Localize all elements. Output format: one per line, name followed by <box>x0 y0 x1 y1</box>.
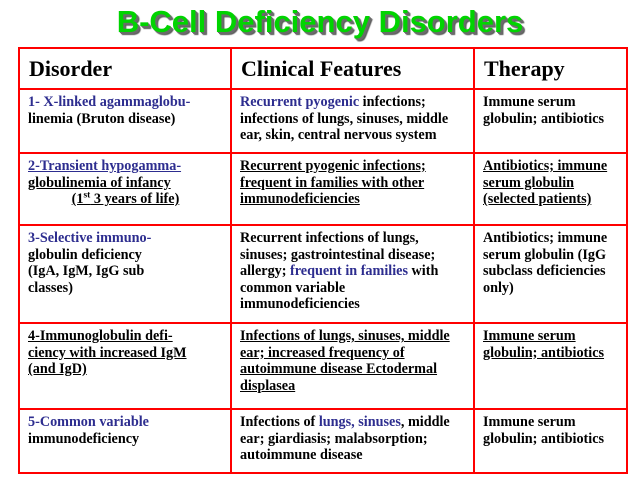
therapy-3-line-1: Antibiotics; immune <box>483 230 619 247</box>
disorder-1-line-2: linemia (Bruton disease) <box>28 111 223 128</box>
cell-therapy-1: Immune serum globulin; antibiotics <box>474 89 627 153</box>
features-1-line-1-rest: infections; <box>359 94 426 110</box>
cell-disorder-3: 3-Selective immuno- globulin deficiency … <box>19 225 231 323</box>
disorder-3-line-1: 3-Selective immuno- <box>28 230 223 247</box>
disorder-2-line-3: (1st 3 years of life) <box>28 191 223 208</box>
features-2-line-3: immunodeficiencies <box>240 191 466 208</box>
therapy-4-line-2: globulin; antibiotics <box>483 345 619 362</box>
disorder-3-line-3: (IgA, IgM, IgG sub <box>28 263 223 280</box>
features-3-line-1: Recurrent infections of lungs, <box>240 230 466 247</box>
disorder-4-line-1: 4-Immunoglobulin defi- <box>28 328 223 345</box>
therapy-5-line-2: globulin; antibiotics <box>483 431 619 448</box>
cell-disorder-2: 2-Transient hypogamma- globulinemia of i… <box>19 153 231 225</box>
therapy-4-line-1: Immune serum <box>483 328 619 345</box>
disorder-4-line-2: ciency with increased IgM <box>28 345 223 362</box>
disorder-3-line-4: classes) <box>28 280 223 297</box>
slide-root: B-Cell Deficiency Disorders Disorder Cli… <box>0 0 640 480</box>
disorders-table-wrapper: Disorder Clinical Features Therapy 1- X-… <box>18 47 626 473</box>
cell-features-5: Infections of lungs, sinuses, middle ear… <box>231 409 474 473</box>
features-3-highlight: frequent in families <box>290 263 408 279</box>
disorder-5-line-1: 5-Common variable <box>28 414 223 431</box>
features-1-line-2: infections of lungs, sinuses, middle <box>240 111 466 128</box>
therapy-5-line-1: Immune serum <box>483 414 619 431</box>
features-5-line-1: Infections of lungs, sinuses, middle <box>240 414 466 431</box>
cell-features-3: Recurrent infections of lungs, sinuses; … <box>231 225 474 323</box>
therapy-2-line-2: serum globulin <box>483 175 619 192</box>
cell-therapy-5: Immune serum globulin; antibiotics <box>474 409 627 473</box>
features-2-line-2: frequent in families with other <box>240 175 466 192</box>
cell-disorder-4: 4-Immunoglobulin defi- ciency with incre… <box>19 323 231 409</box>
cell-features-2: Recurrent pyogenic infections; frequent … <box>231 153 474 225</box>
therapy-3-line-3: subclass deficiencies <box>483 263 619 280</box>
features-5-line-1-pre: Infections of <box>240 414 319 430</box>
features-4-line-2: ear; increased frequency of <box>240 345 466 362</box>
cell-therapy-2: Antibiotics; immune serum globulin (sele… <box>474 153 627 225</box>
cell-features-1: Recurrent pyogenic infections; infection… <box>231 89 474 153</box>
therapy-2-line-1: Antibiotics; immune <box>483 158 619 175</box>
cell-disorder-1: 1- X-linked agammaglobu- linemia (Bruton… <box>19 89 231 153</box>
features-1-line-1: Recurrent pyogenic infections; <box>240 94 466 111</box>
features-3-line-3-post: with <box>408 263 438 279</box>
disorder-1-line-1: 1- X-linked agammaglobu- <box>28 94 223 111</box>
features-5-line-3: autoimmune disease <box>240 447 466 464</box>
column-header-therapy: Therapy <box>474 48 627 89</box>
disorder-5-line-2: immunodeficiency <box>28 431 223 448</box>
table-header-row: Disorder Clinical Features Therapy <box>19 48 627 89</box>
features-4-line-4: displasea <box>240 378 466 395</box>
features-3-line-4: common variable <box>240 280 466 297</box>
therapy-3-line-2: serum globulin (IgG <box>483 247 619 264</box>
table-row: 5-Common variable immunodeficiency Infec… <box>19 409 627 473</box>
cell-therapy-3: Antibiotics; immune serum globulin (IgG … <box>474 225 627 323</box>
cell-features-4: Infections of lungs, sinuses, middle ear… <box>231 323 474 409</box>
features-4-line-1: Infections of lungs, sinuses, middle <box>240 328 466 345</box>
disorder-2-line-2: globulinemia of infancy <box>28 175 223 192</box>
disorder-4-line-3: (and IgD) <box>28 361 223 378</box>
features-3-line-2: sinuses; gastrointestinal disease; <box>240 247 466 264</box>
features-1-line-3: ear, skin, central nervous system <box>240 127 466 144</box>
features-2-line-1: Recurrent pyogenic infections; <box>240 158 466 175</box>
features-3-line-3-pre: allergy; <box>240 263 290 279</box>
features-5-line-2: ear; giardiasis; malabsorption; <box>240 431 466 448</box>
disorder-2-line-3-pre: (1 <box>72 191 84 207</box>
page-title: B-Cell Deficiency Disorders <box>0 2 640 42</box>
table-row: 1- X-linked agammaglobu- linemia (Bruton… <box>19 89 627 153</box>
table-row: 4-Immunoglobulin defi- ciency with incre… <box>19 323 627 409</box>
disorder-2-line-3-post: 3 years of life) <box>90 191 179 207</box>
column-header-disorder: Disorder <box>19 48 231 89</box>
table-row: 3-Selective immuno- globulin deficiency … <box>19 225 627 323</box>
cell-therapy-4: Immune serum globulin; antibiotics <box>474 323 627 409</box>
cell-disorder-5: 5-Common variable immunodeficiency <box>19 409 231 473</box>
therapy-1-line-1: Immune serum <box>483 94 619 111</box>
column-header-clinical-features: Clinical Features <box>231 48 474 89</box>
disorder-2-line-1: 2-Transient hypogamma- <box>28 158 223 175</box>
table-row: 2-Transient hypogamma- globulinemia of i… <box>19 153 627 225</box>
features-4-line-3: autoimmune disease Ectodermal <box>240 361 466 378</box>
disorder-3-line-2: globulin deficiency <box>28 247 223 264</box>
features-3-line-3: allergy; frequent in families with <box>240 263 466 280</box>
therapy-3-line-4: only) <box>483 280 619 297</box>
features-3-line-5: immunodeficiencies <box>240 296 466 313</box>
b-cell-deficiency-table: Disorder Clinical Features Therapy 1- X-… <box>18 47 628 474</box>
features-1-highlight: Recurrent pyogenic <box>240 94 359 110</box>
features-5-highlight: lungs, sinuses <box>319 414 401 430</box>
therapy-1-line-2: globulin; antibiotics <box>483 111 619 128</box>
features-5-line-1-post: , middle <box>401 414 450 430</box>
therapy-2-line-3: (selected patients) <box>483 191 619 208</box>
